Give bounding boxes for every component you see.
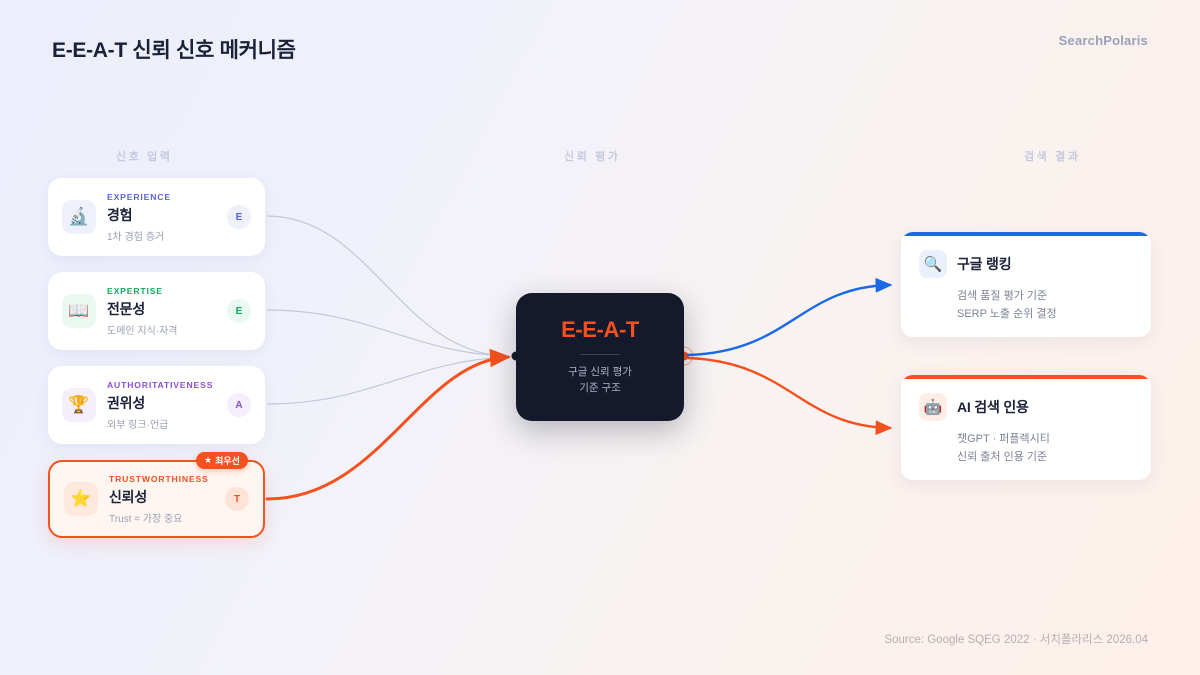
signal-kicker: EXPERTISE — [107, 286, 221, 296]
signal-card-trustworthiness[interactable]: ⭐ TRUSTWORTHINESS 신뢰성 Trust = 가장 중요 T — [48, 460, 265, 538]
signal-title: 권위성 — [107, 393, 221, 413]
wire-authority-to-hub — [267, 357, 505, 404]
column-caption-result: 검색 결과 — [1024, 148, 1081, 164]
signal-subtitle: 외부 링크·언급 — [107, 416, 221, 431]
hub-subtitle-line-2: 기준 구조 — [568, 381, 632, 397]
column-caption-evaluation: 신뢰 평가 — [564, 148, 621, 164]
signal-kicker: EXPERIENCE — [107, 192, 221, 202]
star-glyph-icon: ★ — [204, 455, 212, 466]
hub-title: E-E-A-T — [561, 317, 639, 343]
signal-subtitle: 도메인 지식·자격 — [107, 322, 221, 337]
page-title: E-E-A-T 신뢰 신호 메커니즘 — [52, 34, 296, 64]
wire-hub-to-google-ranking — [688, 285, 890, 355]
signal-card-expertise[interactable]: 📖 EXPERTISE 전문성 도메인 지식·자격 E — [48, 272, 265, 350]
priority-badge-label: 최우선 — [215, 454, 240, 467]
signal-subtitle: 1차 경험 증거 — [107, 228, 221, 243]
signal-letter-badge: E — [227, 299, 251, 323]
signal-title: 전문성 — [107, 299, 221, 319]
trophy-icon: 🏆 — [62, 388, 96, 422]
robot-icon: 🤖 — [919, 393, 947, 421]
wire-expertise-to-hub — [267, 310, 505, 356]
signal-kicker: TRUSTWORTHINESS — [109, 474, 219, 484]
outcome-detail-line-1: 검색 품질 평가 기준 — [919, 287, 1133, 305]
hub-subtitle: 구글 신뢰 평가 기준 구조 — [568, 365, 632, 397]
outcome-detail-line-2: SERP 노출 순위 결정 — [919, 305, 1133, 323]
diagram-canvas: E-E-A-T 신뢰 신호 메커니즘 SearchPolaris 신호 입력 신… — [0, 0, 1200, 675]
brand-label: SearchPolaris — [1059, 33, 1148, 48]
outcome-title: 구글 랭킹 — [957, 254, 1011, 274]
source-note: Source: Google SQEG 2022 · 서치폴라리스 2026.0… — [884, 631, 1148, 647]
column-caption-input: 신호 입력 — [116, 148, 173, 164]
signal-title: 신뢰성 — [109, 487, 219, 507]
hub-subtitle-line-1: 구글 신뢰 평가 — [568, 365, 632, 381]
star-icon: ⭐ — [64, 482, 98, 516]
signal-letter-badge: A — [227, 393, 251, 417]
wire-experience-to-hub — [267, 216, 505, 356]
outcome-card-body: 🔍 구글 랭킹 검색 품질 평가 기준 SERP 노출 순위 결정 — [901, 236, 1151, 323]
hub-node[interactable]: E-E-A-T 구글 신뢰 평가 기준 구조 — [516, 293, 684, 421]
outcome-header: 🔍 구글 랭킹 — [919, 250, 1133, 278]
outcome-card-body: 🤖 AI 검색 인용 챗GPT · 퍼플렉시티 신뢰 출처 인용 기준 — [901, 379, 1151, 466]
priority-badge: ★ 최우선 — [196, 452, 248, 469]
magnifier-icon: 🔍 — [919, 250, 947, 278]
signal-card-body: EXPERTISE 전문성 도메인 지식·자격 — [107, 286, 221, 337]
outcome-detail-line-2: 신뢰 출처 인용 기준 — [919, 448, 1133, 466]
signal-letter-badge: E — [227, 205, 251, 229]
signal-letter-badge: T — [225, 487, 249, 511]
signal-title: 경험 — [107, 205, 221, 225]
signal-kicker: AUTHORITATIVENESS — [107, 380, 221, 390]
wire-trust-to-hub — [267, 357, 508, 499]
signal-card-body: EXPERIENCE 경험 1차 경험 증거 — [107, 192, 221, 243]
outcome-card-ai-citation[interactable]: 🤖 AI 검색 인용 챗GPT · 퍼플렉시티 신뢰 출처 인용 기준 — [901, 375, 1151, 480]
wire-hub-to-ai-citation — [688, 358, 890, 428]
outcome-detail-line-1: 챗GPT · 퍼플렉시티 — [919, 430, 1133, 448]
microscope-icon: 🔬 — [62, 200, 96, 234]
signal-subtitle: Trust = 가장 중요 — [109, 510, 219, 525]
signal-card-authoritativeness[interactable]: 🏆 AUTHORITATIVENESS 권위성 외부 링크·언급 A — [48, 366, 265, 444]
signal-card-body: TRUSTWORTHINESS 신뢰성 Trust = 가장 중요 — [109, 474, 219, 525]
signal-card-body: AUTHORITATIVENESS 권위성 외부 링크·언급 — [107, 380, 221, 431]
hub-divider — [580, 354, 620, 355]
outcome-title: AI 검색 인용 — [957, 397, 1029, 417]
open-book-icon: 📖 — [62, 294, 96, 328]
outcome-header: 🤖 AI 검색 인용 — [919, 393, 1133, 421]
signal-card-experience[interactable]: 🔬 EXPERIENCE 경험 1차 경험 증거 E — [48, 178, 265, 256]
outcome-card-google-ranking[interactable]: 🔍 구글 랭킹 검색 품질 평가 기준 SERP 노출 순위 결정 — [901, 232, 1151, 337]
